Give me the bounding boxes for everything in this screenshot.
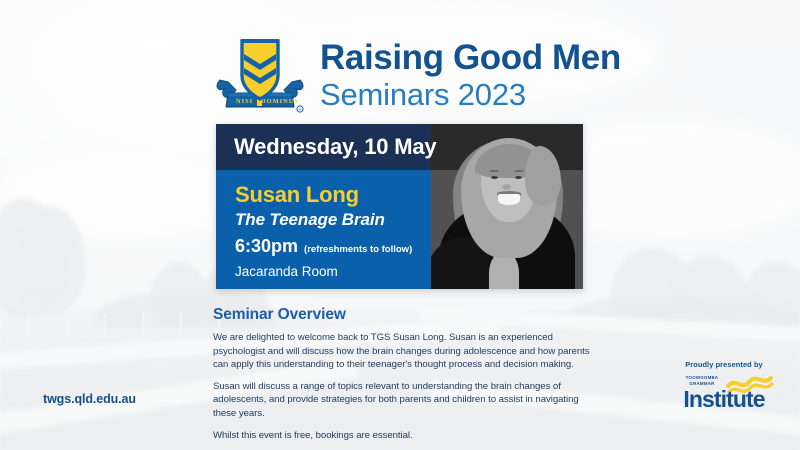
event-time: 6:30pm [235, 236, 298, 257]
poster-subtitle: Seminars 2023 [320, 79, 621, 110]
school-crest-icon: NISI DOMINUS R [214, 30, 306, 118]
seminar-overview: Seminar Overview We are delighted to wel… [213, 306, 595, 442]
website-url[interactable]: twgs.qld.edu.au [43, 392, 136, 406]
background-fence-post [180, 312, 182, 338]
background-fence-post [104, 314, 106, 338]
svg-text:NISI: NISI [236, 98, 253, 105]
overview-paragraph: Susan will discuss a range of topics rel… [213, 380, 595, 421]
masthead: NISI DOMINUS R Raising Good Men Seminars… [214, 30, 621, 118]
background-tree [672, 256, 748, 328]
svg-text:DOMINUS: DOMINUS [261, 98, 299, 105]
presenter-block: Proudly presented by TOOWOOMBA GRAMMAR I… [668, 360, 780, 411]
event-time-note: (refreshments to follow) [304, 244, 412, 255]
background-fence-post [28, 316, 30, 338]
background-hedge [560, 296, 800, 330]
speaker-portrait [431, 124, 583, 289]
svg-text:R: R [299, 107, 302, 112]
institute-logo-line1: TOOWOOMBA [686, 375, 719, 380]
poster-canvas: NISI DOMINUS R Raising Good Men Seminars… [0, 0, 800, 450]
overview-heading: Seminar Overview [213, 306, 595, 324]
background-tree [742, 262, 800, 328]
background-tree [610, 248, 696, 330]
institute-logo-wordmark: Institute [668, 386, 780, 413]
masthead-titles: Raising Good Men Seminars 2023 [320, 38, 621, 110]
background-fence-post [66, 314, 68, 338]
event-card: Wednesday, 10 May Susan Long The Teenage… [216, 124, 583, 289]
background-tree [18, 206, 86, 314]
overview-paragraph: Whilst this event is free, bookings are … [213, 429, 595, 443]
poster-title: Raising Good Men [320, 40, 621, 75]
background-tree [150, 262, 208, 326]
background-cloud [0, 150, 240, 240]
institute-logo: TOOWOOMBA GRAMMAR Institute [668, 375, 780, 411]
portrait-grayscale-filter [431, 124, 583, 289]
background-tree [0, 198, 66, 318]
overview-paragraph: We are delighted to welcome back to TGS … [213, 331, 595, 372]
presented-by-label: Proudly presented by [668, 360, 780, 369]
background-fence-post [142, 312, 144, 338]
event-date: Wednesday, 10 May [234, 134, 436, 160]
